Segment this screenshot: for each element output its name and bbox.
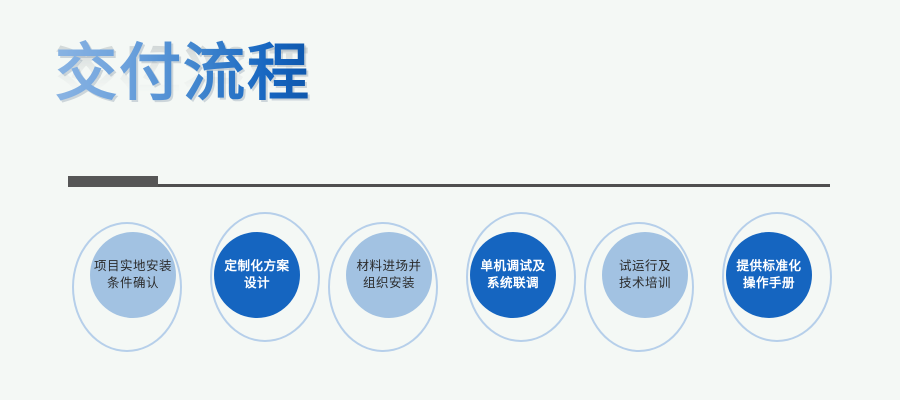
step-bubble-4[interactable]: 单机调试及 系统联调 (470, 232, 556, 318)
step-label-2-line2: 设计 (244, 275, 270, 292)
step-label-6-line1: 提供标准化 (736, 258, 801, 275)
divider-thick-segment (68, 176, 158, 187)
step-label-3-line2: 组织安装 (363, 275, 415, 292)
step-bubble-3[interactable]: 材料进场并 组织安装 (346, 232, 432, 318)
flow-step-5[interactable]: 试运行及 技术培训 (580, 200, 700, 375)
divider-thin-line (68, 184, 830, 187)
step-label-6-line2: 操作手册 (743, 275, 795, 292)
page-title: 交付流程 (55, 38, 311, 110)
step-label-4-line1: 单机调试及 (480, 258, 545, 275)
step-label-3-line1: 材料进场并 (356, 258, 421, 275)
flow-step-4[interactable]: 单机调试及 系统联调 (452, 200, 572, 375)
step-bubble-1[interactable]: 项目实地安装 条件确认 (90, 232, 176, 318)
step-bubble-6[interactable]: 提供标准化 操作手册 (726, 232, 812, 318)
step-label-1-line1: 项目实地安装 (94, 258, 172, 275)
step-bubble-5[interactable]: 试运行及 技术培训 (602, 232, 688, 318)
title-divider (68, 176, 830, 188)
flow-step-6[interactable]: 提供标准化 操作手册 (708, 200, 828, 375)
delivery-flow-diagram: 项目实地安装 条件确认 定制化方案 设计 材料进场并 组织安装 单机调试及 系统… (0, 200, 900, 375)
step-label-5-line2: 技术培训 (619, 275, 671, 292)
slide-canvas: 交付流程 交付流程 项目实地安装 条件确认 定制化方案 设计 材料进场并 (0, 0, 900, 400)
title-block: 交付流程 交付流程 (55, 38, 475, 153)
flow-step-2[interactable]: 定制化方案 设计 (196, 200, 316, 375)
step-label-1-line2: 条件确认 (107, 275, 159, 292)
flow-step-3[interactable]: 材料进场并 组织安装 (324, 200, 444, 375)
step-label-5-line1: 试运行及 (619, 258, 671, 275)
step-bubble-2[interactable]: 定制化方案 设计 (214, 232, 300, 318)
step-label-2-line1: 定制化方案 (224, 258, 289, 275)
step-label-4-line2: 系统联调 (487, 275, 539, 292)
flow-step-1[interactable]: 项目实地安装 条件确认 (68, 200, 188, 375)
